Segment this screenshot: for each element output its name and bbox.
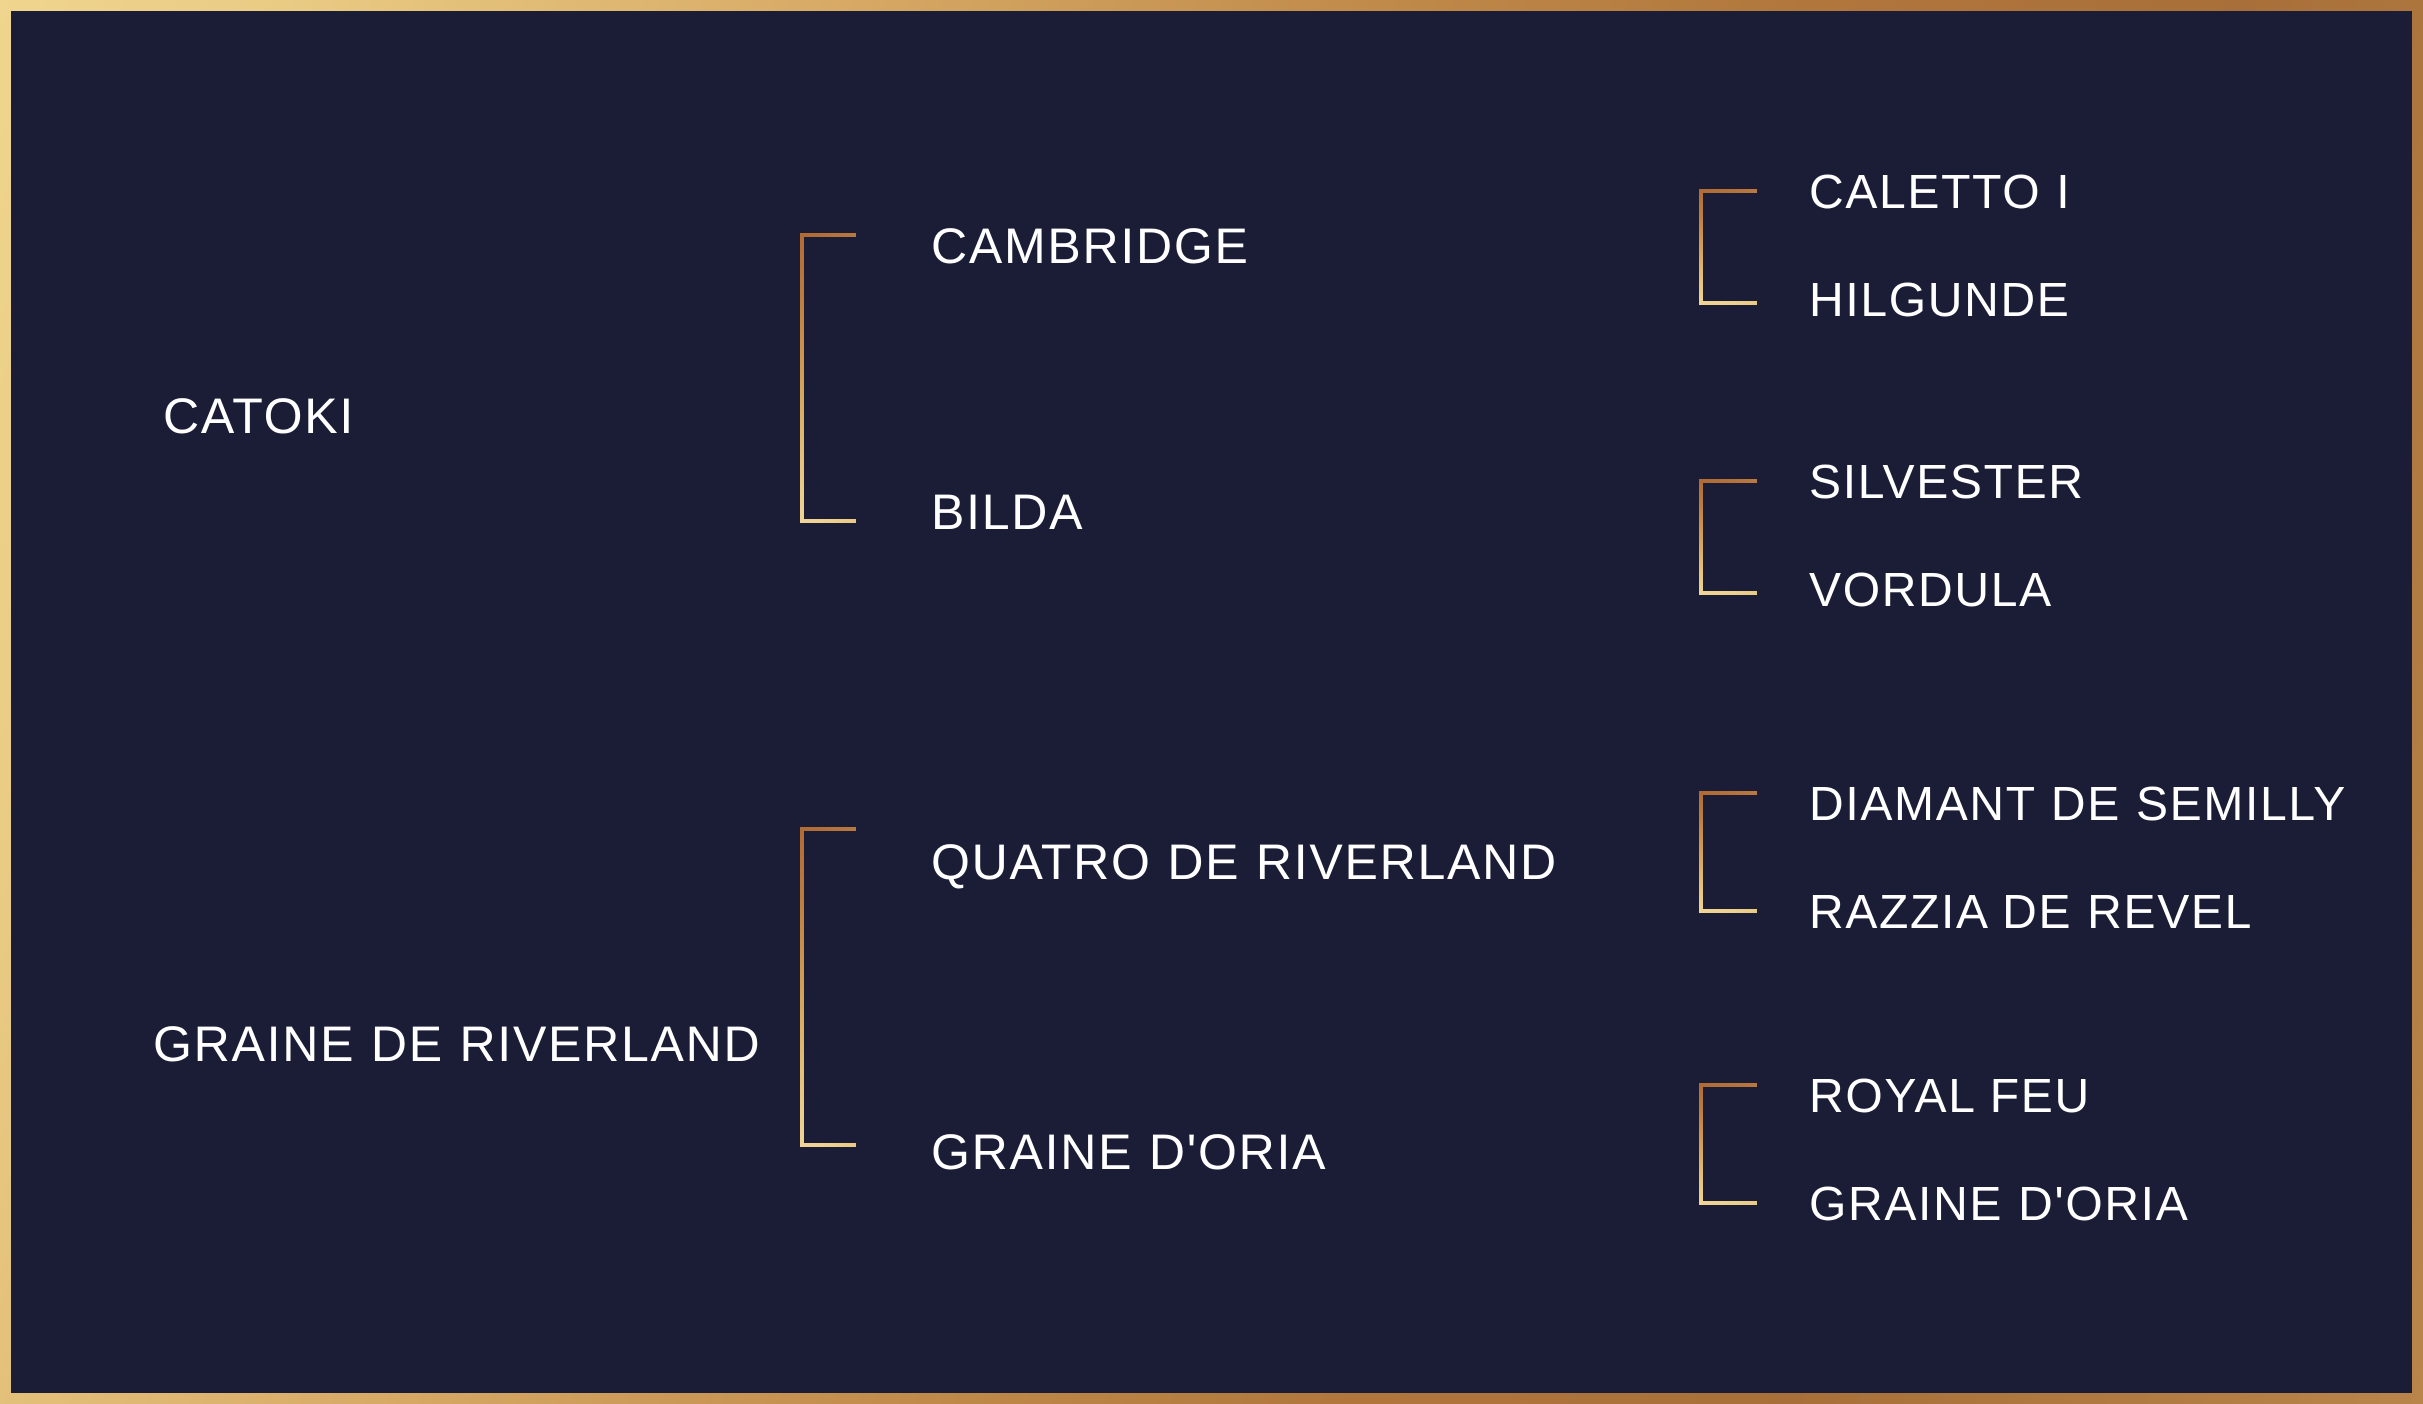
pedigree-node-dam-sire[interactable]: QUATRO DE RIVERLAND xyxy=(931,837,1558,887)
bracket-top-arm xyxy=(1699,479,1757,483)
pedigree-node-dam[interactable]: GRAINE DE RIVERLAND xyxy=(153,1019,761,1069)
bracket-vertical-line xyxy=(1699,791,1703,913)
bracket-sire-to-gen2 xyxy=(800,233,856,523)
pedigree-node-ds-sire[interactable]: DIAMANT DE SEMILLY xyxy=(1809,781,2347,829)
pedigree-frame: CATOKI GRAINE DE RIVERLAND CAMBRIDGE BIL… xyxy=(0,0,2423,1404)
pedigree-node-dd-sire[interactable]: ROYAL FEU xyxy=(1809,1073,2091,1121)
bracket-bottom-arm xyxy=(800,1143,856,1147)
bracket-dam-sire-to-gen3 xyxy=(1699,791,1757,913)
bracket-bottom-arm xyxy=(1699,1201,1757,1205)
pedigree-node-ss-sire[interactable]: CALETTO I xyxy=(1809,169,2071,217)
bracket-dam-dam-to-gen3 xyxy=(1699,1083,1757,1205)
pedigree-node-sire[interactable]: CATOKI xyxy=(163,391,355,441)
bracket-vertical-line xyxy=(1699,189,1703,305)
bracket-top-arm xyxy=(1699,189,1757,193)
pedigree-node-ss-dam[interactable]: HILGUNDE xyxy=(1809,277,2070,325)
bracket-bottom-arm xyxy=(800,519,856,523)
bracket-dam-to-gen2 xyxy=(800,827,856,1147)
pedigree-node-ds-dam[interactable]: RAZZIA DE REVEL xyxy=(1809,889,2253,937)
bracket-top-arm xyxy=(800,233,856,237)
pedigree-node-dam-dam[interactable]: GRAINE D'ORIA xyxy=(931,1127,1327,1177)
pedigree-canvas: CATOKI GRAINE DE RIVERLAND CAMBRIDGE BIL… xyxy=(11,11,2412,1393)
bracket-top-arm xyxy=(1699,791,1757,795)
pedigree-node-sire-dam[interactable]: BILDA xyxy=(931,487,1084,537)
bracket-top-arm xyxy=(1699,1083,1757,1087)
pedigree-node-sire-sire[interactable]: CAMBRIDGE xyxy=(931,221,1250,271)
bracket-vertical-line xyxy=(1699,479,1703,595)
bracket-bottom-arm xyxy=(1699,591,1757,595)
pedigree-node-sd-dam[interactable]: VORDULA xyxy=(1809,567,2053,615)
bracket-bottom-arm xyxy=(1699,301,1757,305)
pedigree-node-sd-sire[interactable]: SILVESTER xyxy=(1809,459,2085,507)
bracket-vertical-line xyxy=(800,827,804,1147)
bracket-sire-dam-to-gen3 xyxy=(1699,479,1757,595)
bracket-top-arm xyxy=(800,827,856,831)
bracket-vertical-line xyxy=(1699,1083,1703,1205)
pedigree-node-dd-dam[interactable]: GRAINE D'ORIA xyxy=(1809,1181,2189,1229)
bracket-sire-sire-to-gen3 xyxy=(1699,189,1757,305)
bracket-bottom-arm xyxy=(1699,909,1757,913)
bracket-vertical-line xyxy=(800,233,804,523)
